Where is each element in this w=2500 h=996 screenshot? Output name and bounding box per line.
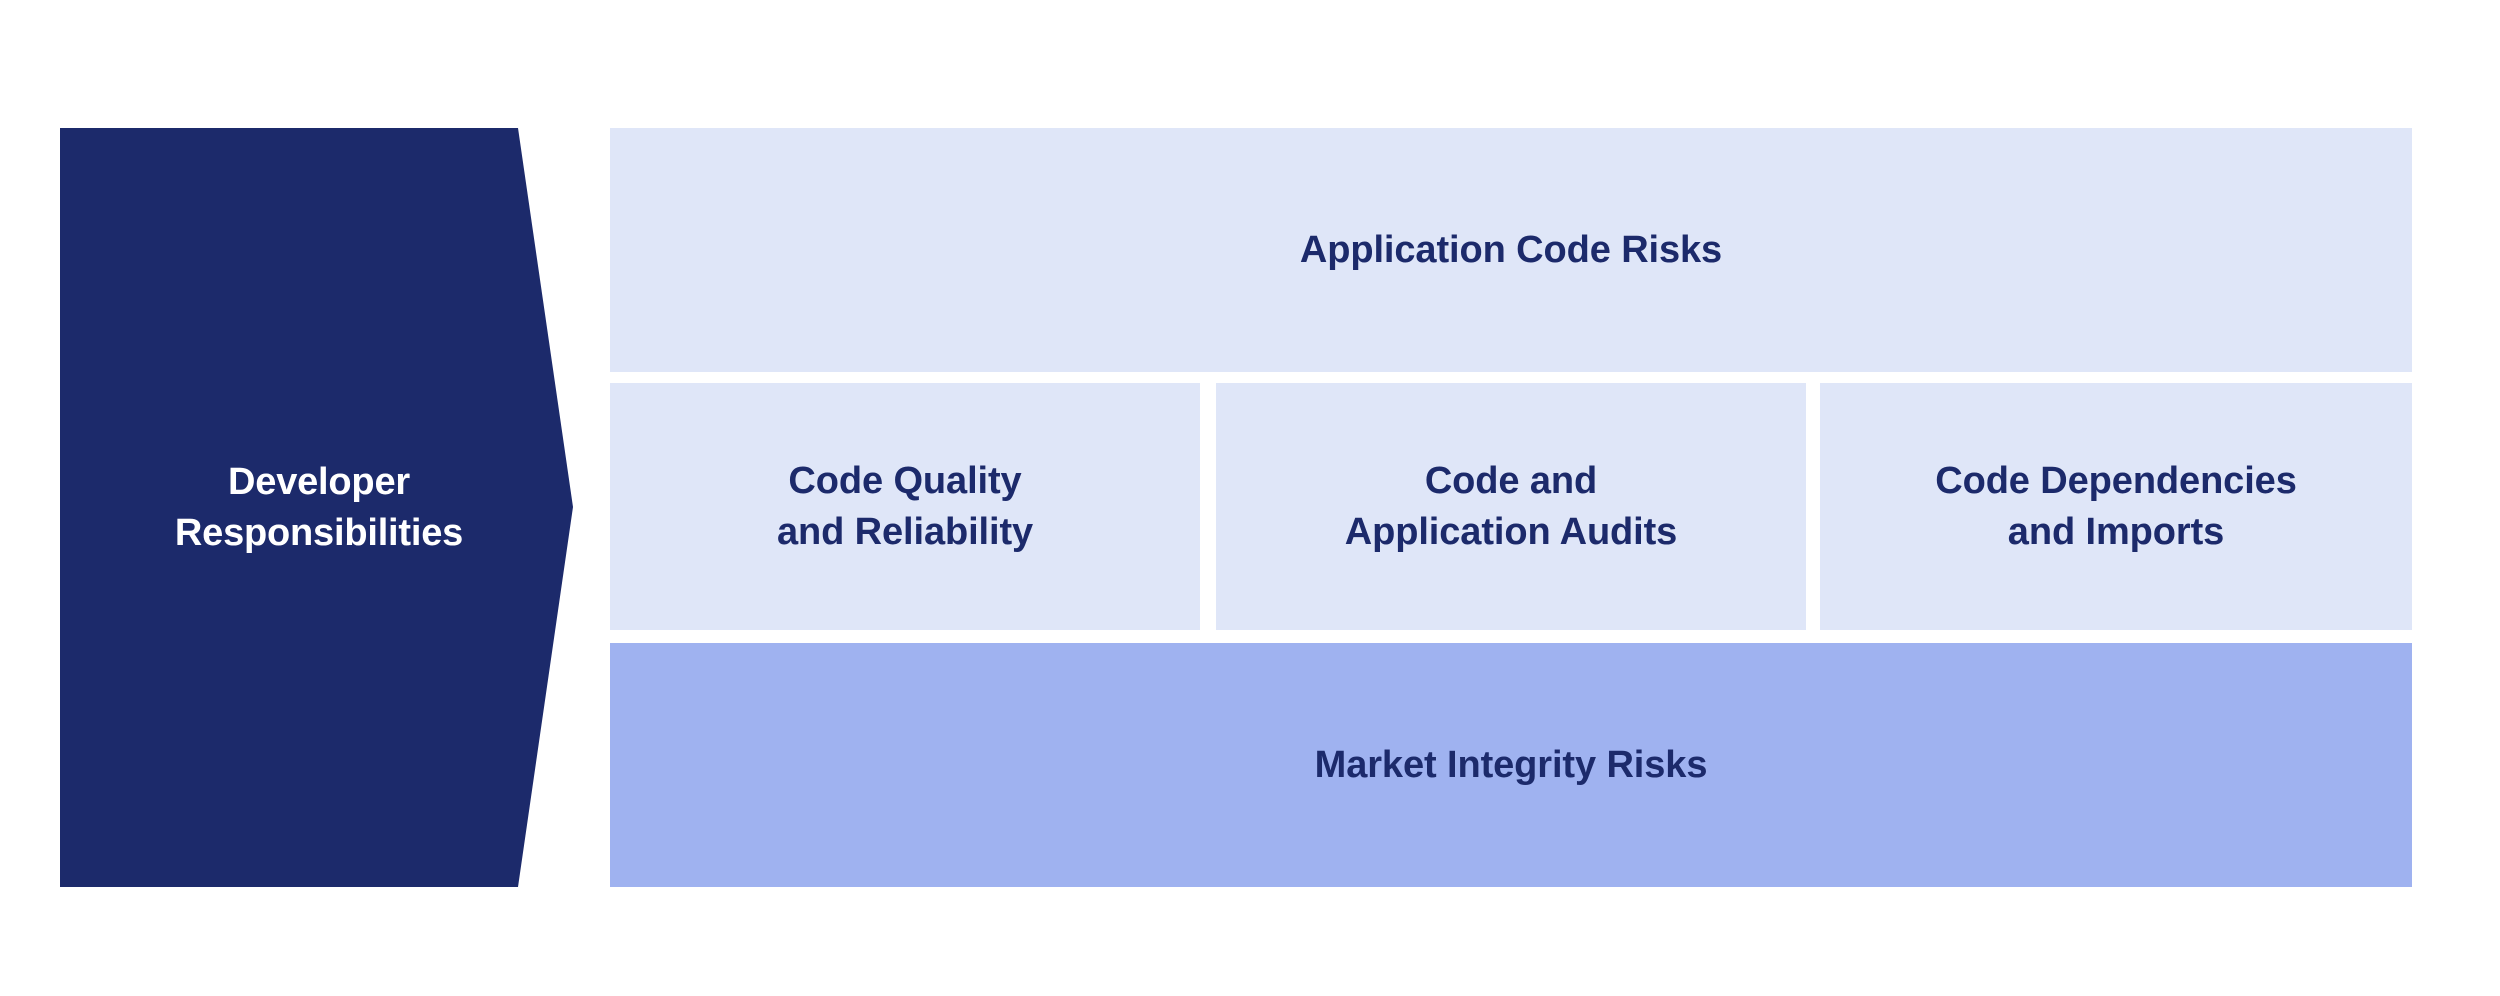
- band-divider-1: [610, 372, 2412, 383]
- cell-divider-1: [1200, 383, 1216, 630]
- band-subcategories: Code Quality and Reliability Code and Ap…: [610, 383, 2412, 630]
- band-divider-2: [610, 630, 2412, 643]
- band-application-code-risks[interactable]: Application Code Risks: [610, 128, 2412, 372]
- band-application-code-risks-label: Application Code Risks: [1300, 229, 1722, 272]
- arrow-shape-icon: [60, 128, 573, 887]
- cell-divider-2: [1806, 383, 1820, 630]
- cell-code-and-application-audits[interactable]: Code and Application Audits: [1216, 383, 1806, 630]
- risk-stack: Application Code Risks Code Quality and …: [610, 128, 2412, 887]
- cell-code-dependencies-and-imports[interactable]: Code Dependencies and Imports: [1820, 383, 2412, 630]
- band-market-integrity-risks[interactable]: Market Integrity Risks: [610, 643, 2412, 887]
- cell-code-quality-and-reliability[interactable]: Code Quality and Reliability: [610, 383, 1200, 630]
- developer-responsibilities-callout[interactable]: Developer Responsibilities: [60, 128, 573, 887]
- diagram-canvas: Developer Responsibilities Application C…: [0, 0, 2500, 996]
- band-market-integrity-risks-label: Market Integrity Risks: [1315, 744, 1708, 787]
